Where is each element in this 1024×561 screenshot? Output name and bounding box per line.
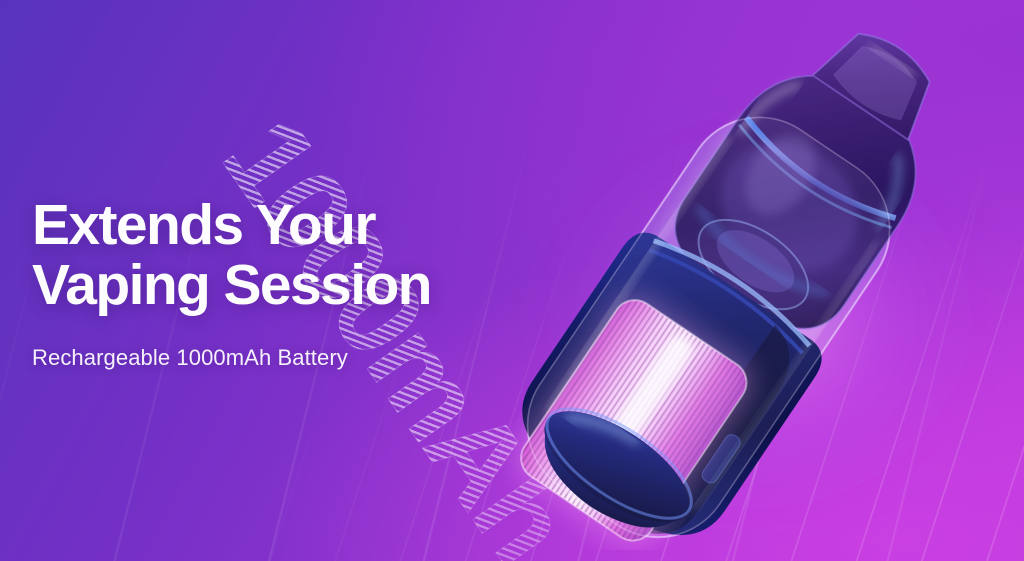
device-battery-casing	[496, 218, 835, 550]
device-pod	[656, 54, 940, 347]
device-end-cap	[520, 388, 707, 550]
page-title: Extends Your Vaping Session	[32, 196, 431, 316]
subtitle: Rechargeable 1000mAh Battery	[32, 345, 431, 371]
device-mouthpiece	[802, 16, 949, 155]
device-outer-shell	[499, 89, 919, 550]
vape-device-illustration	[470, 0, 1024, 550]
glowing-battery-coil	[504, 283, 763, 550]
device-glass-overlay	[499, 89, 919, 550]
copy-block: Extends Your Vaping Session Rechargeable…	[32, 196, 431, 371]
headline-line-2: Vaping Session	[32, 256, 431, 316]
product-banner: 1000mAh	[0, 0, 1024, 561]
headline-line-1: Extends Your	[32, 193, 375, 257]
